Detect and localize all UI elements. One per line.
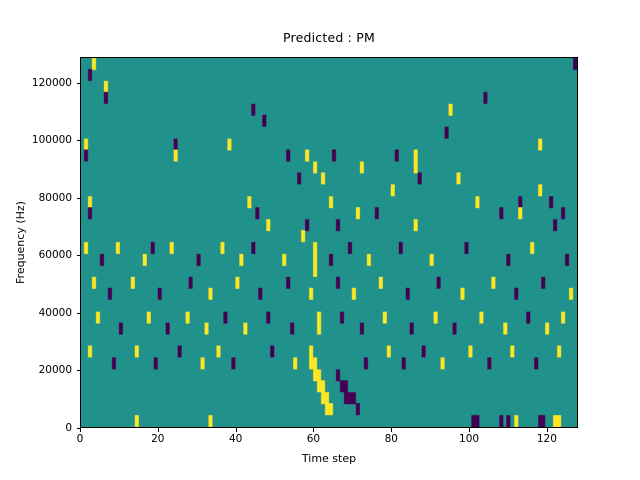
x-tick-mark [313, 428, 314, 432]
x-tick-mark [391, 428, 392, 432]
matplotlib-figure: Predicted : PM 020406080100120 020000400… [0, 0, 640, 480]
x-tick-label: 80 [385, 433, 398, 445]
y-tick-label: 100000 [32, 134, 72, 146]
x-tick-mark [236, 428, 237, 432]
x-tick-label: 40 [229, 433, 242, 445]
x-tick-label: 0 [77, 433, 84, 445]
y-tick-label: 60000 [39, 249, 72, 261]
y-axis-label: Frequency (Hz) [14, 57, 28, 428]
y-tick-mark [77, 140, 81, 141]
x-tick-mark [158, 428, 159, 432]
x-tick-label: 20 [151, 433, 164, 445]
y-tick-label: 80000 [39, 192, 72, 204]
y-tick-label: 0 [65, 422, 72, 434]
heatmap-canvas [81, 58, 577, 427]
y-tick-mark [77, 370, 81, 371]
x-axis-label: Time step [80, 452, 578, 465]
x-tick-mark [469, 428, 470, 432]
y-tick-mark [77, 313, 81, 314]
y-tick-mark [77, 198, 81, 199]
x-tick-mark [547, 428, 548, 432]
x-tick-label: 60 [307, 433, 320, 445]
y-tick-mark [77, 428, 81, 429]
y-tick-label: 20000 [39, 364, 72, 376]
y-tick-mark [77, 255, 81, 256]
page-title: Predicted : PM [80, 30, 578, 45]
x-tick-label: 100 [459, 433, 479, 445]
y-tick-label: 40000 [39, 307, 72, 319]
y-tick-mark [77, 83, 81, 84]
x-tick-mark [80, 428, 81, 432]
heatmap-axes [80, 57, 578, 428]
y-tick-label: 120000 [32, 77, 72, 89]
x-tick-label: 120 [537, 433, 557, 445]
